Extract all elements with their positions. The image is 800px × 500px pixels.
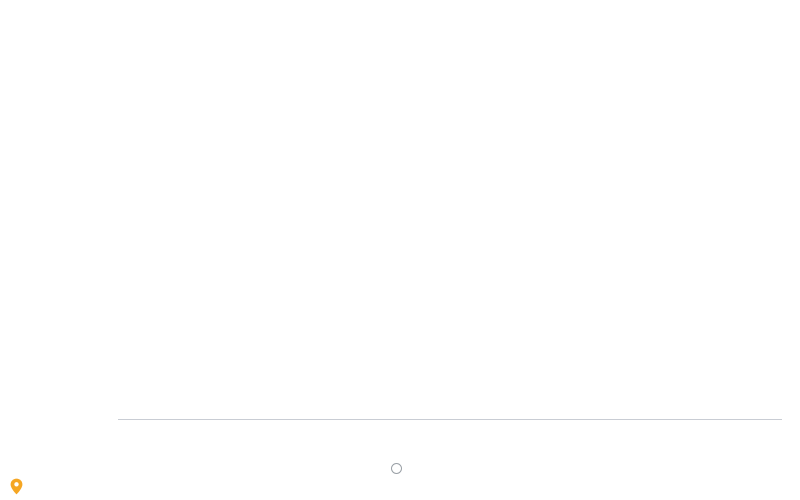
map-pin-icon [10,478,23,495]
x-axis-line [118,419,782,420]
plot-area [118,56,782,418]
chart-legend[interactable] [0,463,800,474]
temperature-chart [0,0,800,500]
circle-marker-icon [391,463,402,474]
source-footer[interactable] [10,478,26,495]
temperature-band [118,56,782,418]
